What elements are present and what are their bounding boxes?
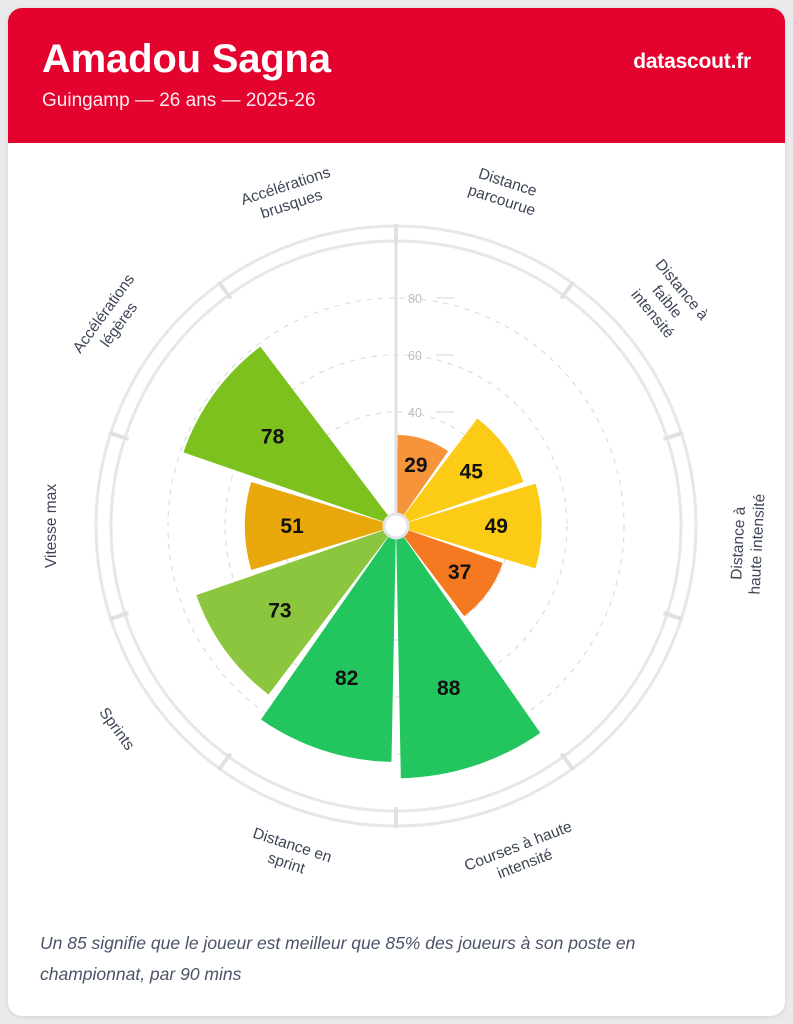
wedge-value-label: 78 xyxy=(261,425,285,448)
axis-category-label: Sprints xyxy=(95,705,137,754)
screenshot-root: Amadou Sagna Guingamp — 26 ans — 2025-26… xyxy=(0,0,793,1024)
wedge-value-label: 29 xyxy=(404,454,427,477)
player-meta: Guingamp — 26 ans — 2025-26 xyxy=(42,88,751,114)
axis-label-group: Distance àfaibleintensité xyxy=(622,256,711,348)
wedge-value-label: 73 xyxy=(268,599,291,622)
radial-tick-label: 80 xyxy=(408,292,422,306)
axis-label-group: Accélérationsbrusques xyxy=(239,164,339,227)
wedge-value-label: 45 xyxy=(460,460,484,483)
axis-label-group: Sprints xyxy=(95,705,137,754)
wedge-value-label: 88 xyxy=(437,677,461,700)
axis-label-group: Vitesse max xyxy=(43,484,60,568)
axis-category-label: Vitesse max xyxy=(43,484,60,568)
pizza-chart: 406080294549378882735178Distanceparcouru… xyxy=(8,143,785,903)
brand-watermark: datascout.fr xyxy=(633,50,751,74)
chart-hub xyxy=(384,514,408,538)
wedge-value-label: 51 xyxy=(280,515,304,538)
chart-footnote: Un 85 signifie que le joueur est meilleu… xyxy=(40,928,741,990)
card-header: Amadou Sagna Guingamp — 26 ans — 2025-26… xyxy=(8,8,785,143)
axis-label-group: Courses à hauteintensité xyxy=(462,818,581,892)
axis-label-group: Distance ensprint xyxy=(245,825,334,885)
radial-tick-label: 40 xyxy=(408,406,422,420)
player-profile-card: Amadou Sagna Guingamp — 26 ans — 2025-26… xyxy=(8,8,785,1016)
axis-category-label: haute intensité xyxy=(747,493,769,595)
axis-label-group: Distanceparcourue xyxy=(466,164,544,220)
radial-tick-label: 60 xyxy=(408,349,422,363)
wedge-value-label: 49 xyxy=(485,515,508,538)
pizza-chart-svg: 406080294549378882735178Distanceparcouru… xyxy=(8,143,785,903)
wedge-value-label: 37 xyxy=(448,561,471,584)
axis-label-group: Distance àhaute intensité xyxy=(728,492,769,595)
axis-label-group: Accélérationslégères xyxy=(70,271,154,368)
axis-category-label: Distance à xyxy=(728,506,749,580)
wedge-value-label: 82 xyxy=(335,667,358,690)
